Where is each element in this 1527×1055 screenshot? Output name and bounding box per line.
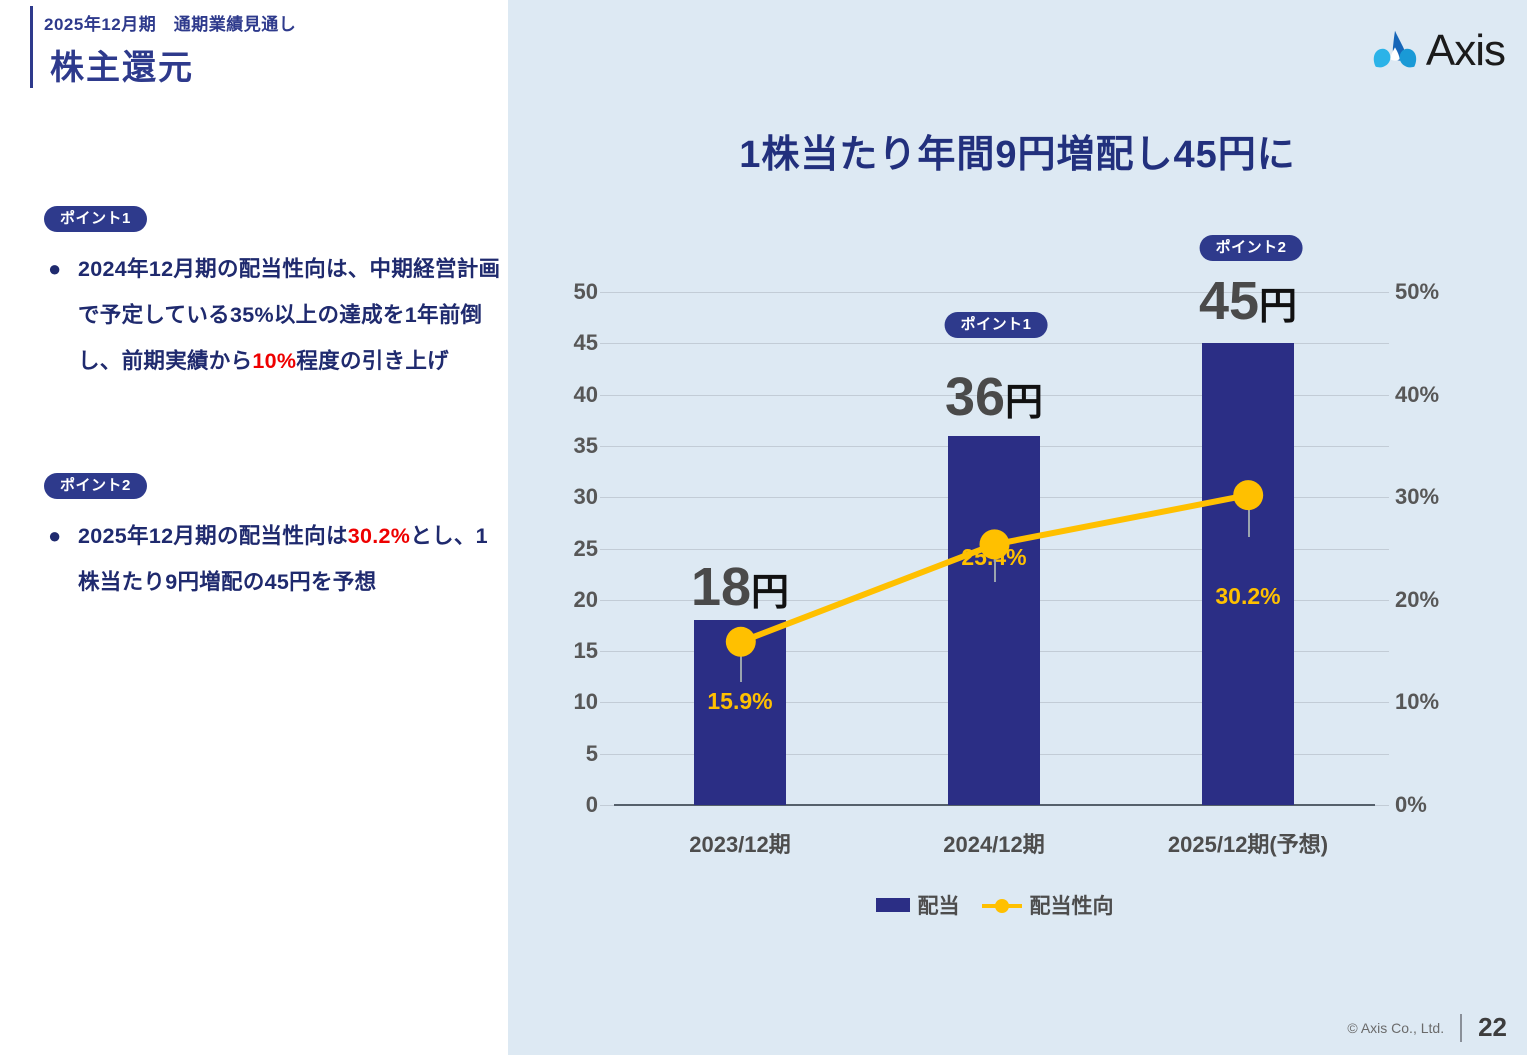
tick-left-30 xyxy=(600,497,614,498)
bullet-2-highlight: 30.2% xyxy=(348,524,410,548)
legend-item-payout-ratio[interactable]: 配当性向 xyxy=(982,890,1114,920)
slide-eyebrow: 2025年12月期 通期業績見通し xyxy=(44,10,296,35)
chart-panel: Axis 1株当たり年間9円増配し45円に xyxy=(508,0,1527,1055)
bullet-1-highlight: 10% xyxy=(252,349,296,373)
tick-right-30 xyxy=(1375,497,1389,498)
tick-left-50 xyxy=(600,292,614,293)
copyright-text: © Axis Co., Ltd. xyxy=(1347,1020,1444,1036)
ytick-left-0: 0 xyxy=(586,792,598,818)
xlabel-2025: 2025/12期(予想) xyxy=(1168,827,1328,859)
tick-left-40 xyxy=(600,395,614,396)
bullet-dot-icon: ● xyxy=(44,513,78,605)
bullet-2-part-0: 2025年12月期の配当性向は xyxy=(78,524,348,548)
ytick-left-5: 5 xyxy=(586,741,598,767)
bullet-text-1: 2024年12月期の配当性向は、中期経営計画で予定している35%以上の達成を1年… xyxy=(78,246,504,384)
ytick-left-25: 25 xyxy=(574,536,598,562)
chart-legend: 配当 配当性向 xyxy=(614,890,1375,920)
tick-left-45 xyxy=(600,343,614,344)
xlabel-2024: 2024/12期 xyxy=(943,827,1045,859)
chart-title: 1株当たり年間9円増配し45円に xyxy=(508,123,1527,178)
page-title: 株主還元 xyxy=(50,40,194,89)
point-badge-2: ポイント2 xyxy=(44,473,147,499)
ytick-right-40: 40% xyxy=(1395,382,1439,408)
axis-logo-wordmark: Axis xyxy=(1426,29,1505,73)
ytick-right-0: 0% xyxy=(1395,792,1427,818)
chart-badge-point2: ポイント2 xyxy=(1200,235,1303,261)
ytick-right-10: 10% xyxy=(1395,689,1439,715)
yen-callout-2023: 18円 xyxy=(691,560,789,614)
tick-left-10 xyxy=(600,702,614,703)
tick-right-20 xyxy=(1375,600,1389,601)
tick-right-25 xyxy=(1375,549,1389,550)
yen-unit-2024: 円 xyxy=(1005,382,1043,424)
bullet-1-part-2: 程度の引き上げ xyxy=(296,349,449,373)
tick-right-40 xyxy=(1375,395,1389,396)
marker-2025 xyxy=(1233,480,1263,510)
tick-right-5 xyxy=(1375,754,1389,755)
tick-left-0 xyxy=(600,805,614,806)
legend-label-dividend: 配当 xyxy=(918,890,960,920)
yen-callout-2024: 36円 xyxy=(945,370,1043,424)
marker-2024 xyxy=(980,529,1010,559)
xlabel-2023: 2023/12期 xyxy=(689,827,791,859)
yen-unit-2023: 円 xyxy=(751,572,789,614)
legend-bar-swatch-icon xyxy=(876,898,910,912)
legend-item-dividend[interactable]: 配当 xyxy=(876,890,960,920)
left-content-panel: 2025年12月期 通期業績見通し 株主還元 ポイント1 ● 2024年12月期… xyxy=(0,0,508,1055)
slide-footer: © Axis Co., Ltd. 22 xyxy=(1347,1012,1507,1043)
ytick-left-10: 10 xyxy=(574,689,598,715)
tick-left-5 xyxy=(600,754,614,755)
title-accent-bar xyxy=(30,6,33,88)
axis-logo-mark-icon xyxy=(1370,28,1420,74)
bullet-item-1: ● 2024年12月期の配当性向は、中期経営計画で予定している35%以上の達成を… xyxy=(44,246,504,384)
footer-divider xyxy=(1460,1014,1462,1042)
axis-logo: Axis xyxy=(1370,28,1505,74)
slide: 2025年12月期 通期業績見通し 株主還元 ポイント1 ● 2024年12月期… xyxy=(0,0,1527,1055)
bullet-item-2: ● 2025年12月期の配当性向は30.2%とし、1株当たり9円増配の45円を予… xyxy=(44,513,504,605)
chart-badge-point2-label: ポイント2 xyxy=(1200,235,1303,261)
ytick-right-50: 50% xyxy=(1395,279,1439,305)
yen-unit-2025: 円 xyxy=(1259,286,1297,328)
chart-badge-point1: ポイント1 xyxy=(945,312,1048,338)
tick-right-15 xyxy=(1375,651,1389,652)
ytick-left-15: 15 xyxy=(574,638,598,664)
point-badge-1: ポイント1 xyxy=(44,206,147,232)
ytick-right-20: 20% xyxy=(1395,587,1439,613)
ytick-right-30: 30% xyxy=(1395,484,1439,510)
yen-callout-2025: 45円 xyxy=(1199,274,1297,328)
chart-plot-area: 50 45 40 35 30 25 20 15 10 5 0 50% 40% xyxy=(614,292,1375,805)
tick-right-10 xyxy=(1375,702,1389,703)
bullet-text-2: 2025年12月期の配当性向は30.2%とし、1株当たり9円増配の45円を予想 xyxy=(78,513,504,605)
yen-value-2023: 18 xyxy=(691,557,751,617)
chart-badge-point1-label: ポイント1 xyxy=(945,312,1048,338)
bullet-dot-icon: ● xyxy=(44,246,78,384)
legend-label-payout-ratio: 配当性向 xyxy=(1030,890,1114,920)
tick-left-25 xyxy=(600,549,614,550)
tick-right-50 xyxy=(1375,292,1389,293)
tick-left-35 xyxy=(600,446,614,447)
ytick-left-35: 35 xyxy=(574,433,598,459)
ytick-left-20: 20 xyxy=(574,587,598,613)
ytick-left-40: 40 xyxy=(574,382,598,408)
yen-value-2025: 45 xyxy=(1199,271,1259,331)
tick-left-15 xyxy=(600,651,614,652)
marker-2023 xyxy=(726,627,756,657)
point-block-1: ポイント1 ● 2024年12月期の配当性向は、中期経営計画で予定している35%… xyxy=(44,206,504,384)
ytick-left-30: 30 xyxy=(574,484,598,510)
point-block-2: ポイント2 ● 2025年12月期の配当性向は30.2%とし、1株当たり9円増配… xyxy=(44,473,504,605)
ytick-left-45: 45 xyxy=(574,330,598,356)
ytick-left-50: 50 xyxy=(574,279,598,305)
legend-line-swatch-icon xyxy=(982,898,1022,912)
tick-left-20 xyxy=(600,600,614,601)
yen-value-2024: 36 xyxy=(945,367,1005,427)
tick-right-0 xyxy=(1375,805,1389,806)
tick-right-45 xyxy=(1375,343,1389,344)
tick-right-35 xyxy=(1375,446,1389,447)
page-number: 22 xyxy=(1478,1012,1507,1043)
